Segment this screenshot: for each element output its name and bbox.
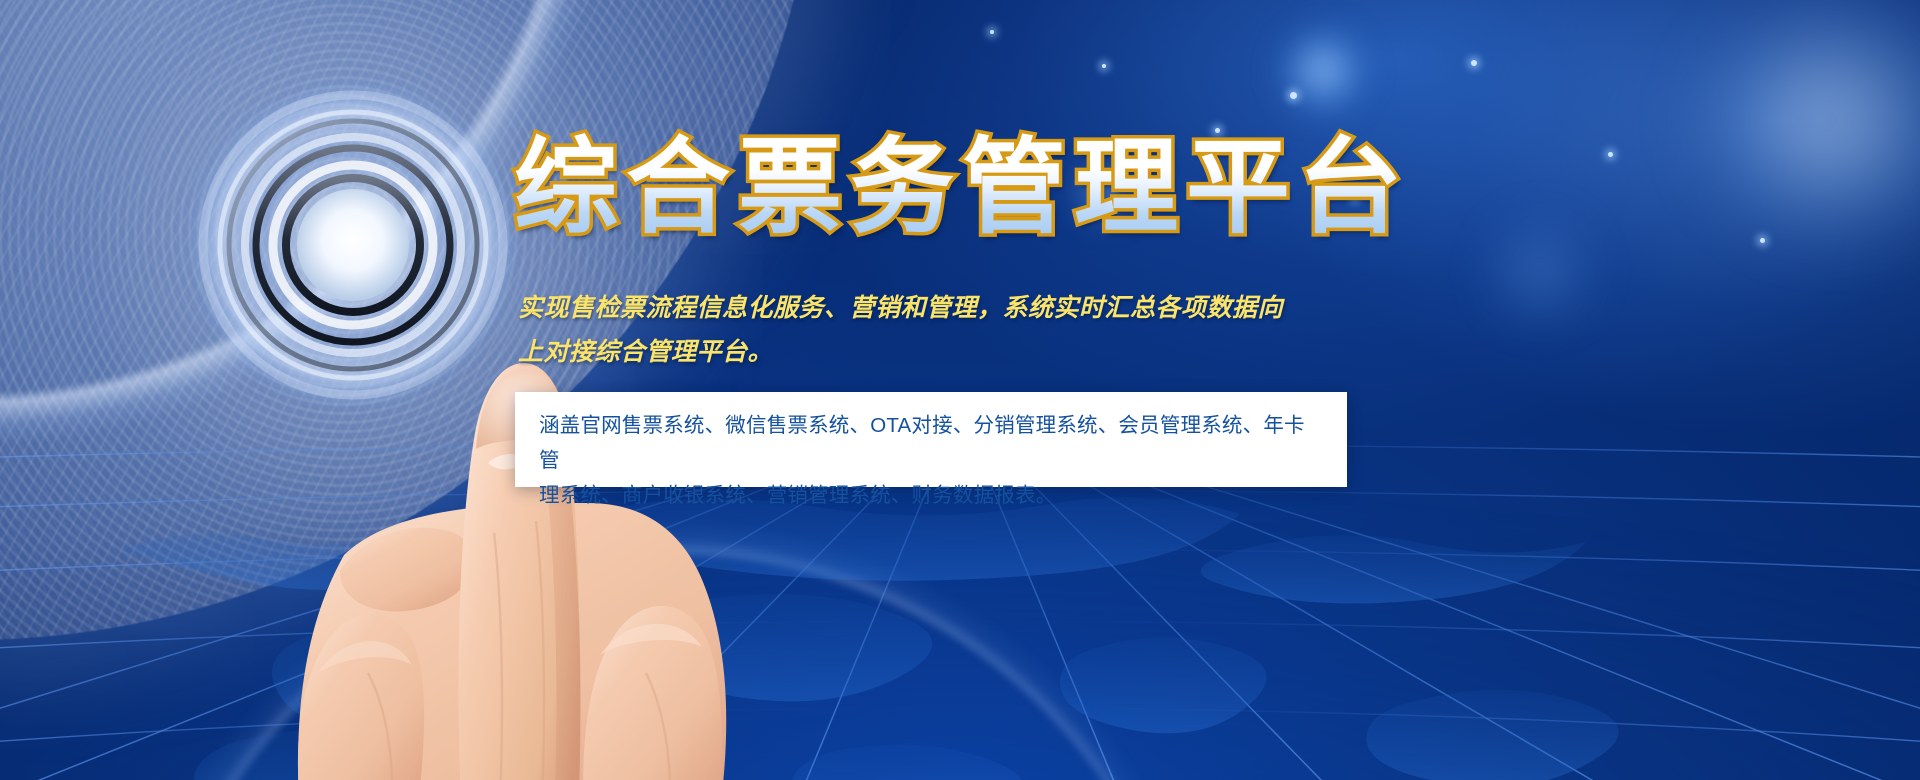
headline-fill-layer: 综合票务管理平台 xyxy=(514,132,1410,241)
sparkle-icon xyxy=(1760,238,1765,243)
sparkle-icon xyxy=(1290,92,1297,99)
subtitle-line-1: 实现售检票流程信息化服务、营销和管理，系统实时汇总各项数据向 xyxy=(518,286,1370,330)
sparkle-icon xyxy=(990,30,994,34)
light-orb-icon xyxy=(1700,10,1920,230)
banner-subtitle: 实现售检票流程信息化服务、营销和管理，系统实时汇总各项数据向 上对接综合管理平台… xyxy=(518,286,1370,374)
sparkle-icon xyxy=(1471,60,1477,66)
feature-box-line-2: 理系统、商户收银系统、营销管理系统、财务数据报表。 xyxy=(539,478,1323,513)
feature-summary-box: 涵盖官网售票系统、微信售票系统、OTA对接、分销管理系统、会员管理系统、年卡管 … xyxy=(515,392,1347,487)
feature-box-line-1: 涵盖官网售票系统、微信售票系统、OTA对接、分销管理系统、会员管理系统、年卡管 xyxy=(539,408,1323,478)
hero-banner: 综合票务管理平台 综合票务管理平台 实现售检票流程信息化服务、营销和管理，系统实… xyxy=(0,0,1920,780)
light-orb-icon xyxy=(1480,210,1600,330)
sparkle-icon xyxy=(1102,64,1106,68)
light-orb-icon xyxy=(1280,28,1366,114)
banner-headline: 综合票务管理平台 综合票务管理平台 xyxy=(514,132,1394,241)
subtitle-line-2: 上对接综合管理平台。 xyxy=(518,330,1370,374)
sparkle-icon xyxy=(1608,152,1613,157)
